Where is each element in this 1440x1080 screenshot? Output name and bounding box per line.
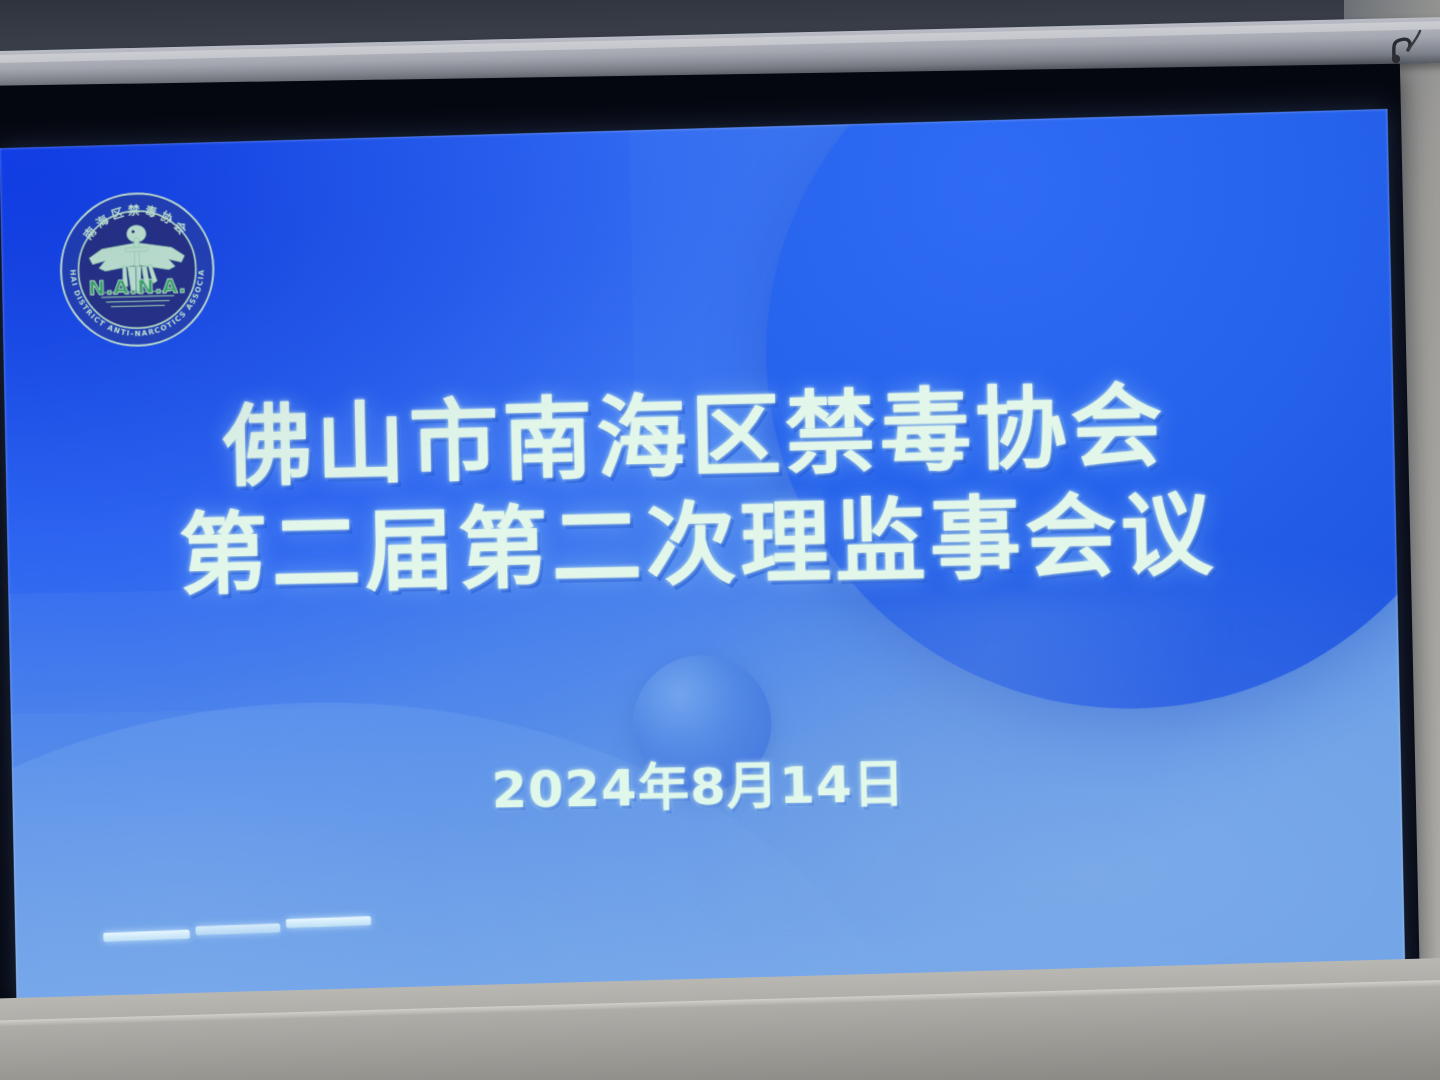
projected-slide-area: 南海区禁毒协会 NANHAI DISTRICT ANTI-NARCOTICS A… — [0, 109, 1406, 1006]
ceiling-mount-hook-icon — [1388, 26, 1422, 66]
association-logo: 南海区禁毒协会 NANHAI DISTRICT ANTI-NARCOTICS A… — [56, 188, 218, 350]
presentation-slide: 南海区禁毒协会 NANHAI DISTRICT ANTI-NARCOTICS A… — [0, 109, 1406, 1006]
dash-1 — [103, 930, 190, 942]
slide-title-block: 佛山市南海区禁毒协会 第二届第二次理监事会议 — [4, 365, 1397, 612]
meeting-room-photo: 南海区禁毒协会 NANHAI DISTRICT ANTI-NARCOTICS A… — [0, 0, 1440, 1080]
svg-text:N.A.N.A.: N.A.N.A. — [88, 275, 186, 301]
dash-2 — [195, 923, 280, 935]
dash-3 — [286, 916, 371, 928]
